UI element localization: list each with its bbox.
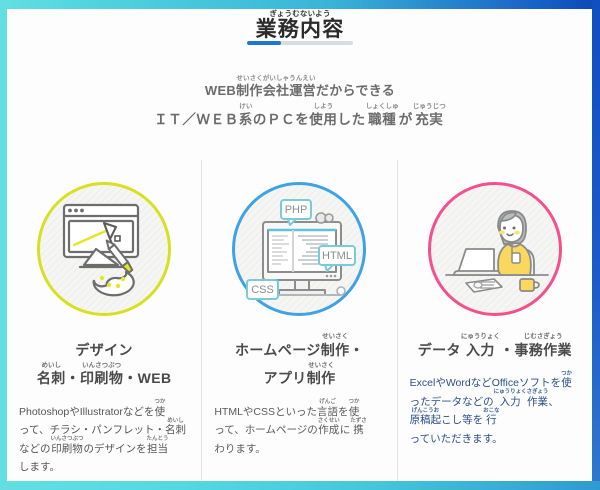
service-columns: デザイン めいし 名刺 ・いんさつぶつ 印刷物 ・WEB PhotoshopやI… xyxy=(7,160,592,481)
subtitle-seg: だからできる xyxy=(316,76,395,98)
coding-monitor-php-html-css-icon: PHP HTML CSS xyxy=(232,182,366,316)
business-content-page: ぎょうむないよう 業務内容 WEB せいさくがいしゃうんえい 制作会社運営 だか… xyxy=(0,0,600,490)
web-card-heading: ホームページせいさく 制作 ・ アプリせいさく 制作 xyxy=(235,334,364,386)
service-card-design[interactable]: デザイン めいし 名刺 ・いんさつぶつ 印刷物 ・WEB PhotoshopやI… xyxy=(7,160,201,481)
design-card-body: PhotoshopやIllustratorなどをつか使 って、チラシ・パンフレッ… xyxy=(19,400,189,474)
svg-text:HTML: HTML xyxy=(323,250,353,262)
svg-text:CSS: CSS xyxy=(252,284,275,296)
subtitle-ruby-seg: せいさくがいしゃうんえい 制作会社運営 xyxy=(236,76,316,98)
subtitle-ruby-seg: じゅうじつ 充実 xyxy=(413,104,446,127)
page-title-furigana: ぎょうむないよう xyxy=(256,10,345,18)
data-entry-card-body: ExcelやWordなどOfficeソフトをつか使 ったデータなどのにゅうりょく… xyxy=(410,372,580,446)
svg-text:PHP: PHP xyxy=(285,204,308,216)
heading-line-1: ホームページせいさく 制作 ・ xyxy=(235,334,364,358)
design-monitor-palette-icon xyxy=(37,182,171,316)
service-card-web[interactable]: PHP HTML CSS ホームページせいさく xyxy=(201,160,396,481)
heading-line-1: データにゅうりょく 入力 ・じむさぎょう 事務作業 xyxy=(418,334,572,358)
data-entry-card-heading: データにゅうりょく 入力 ・じむさぎょう 事務作業 xyxy=(418,334,572,358)
service-card-data-entry[interactable]: データにゅうりょく 入力 ・じむさぎょう 事務作業 ExcelやWordなどOf… xyxy=(397,160,592,481)
subtitle-line-1: WEB せいさくがいしゃうんえい 制作会社運営 だからできる xyxy=(0,76,600,98)
top-accent-bar xyxy=(0,0,600,9)
design-card-heading: デザイン めいし 名刺 ・いんさつぶつ 印刷物 ・WEB xyxy=(37,334,172,386)
heading-line-2: めいし 名刺 ・いんさつぶつ 印刷物 ・WEB xyxy=(37,363,172,387)
web-card-body: HTMLやCSSといったげんご言語 をつか使 って、ホームページのさくせい作成 … xyxy=(214,400,384,455)
left-accent-edge xyxy=(0,0,7,490)
subtitle-seg: のＰＣを xyxy=(253,104,309,127)
subtitle-seg: ＩＴ／ＷＥＢ xyxy=(154,104,239,127)
page-title-block: ぎょうむないよう 業務内容 xyxy=(0,10,600,41)
heading-line-1: デザイン xyxy=(37,334,172,358)
page-title-ruby-group: ぎょうむないよう 業務内容 xyxy=(256,10,345,40)
office-worker-laptop-icon xyxy=(428,182,562,316)
page-title: 業務内容 xyxy=(256,19,345,40)
subtitle-ruby-seg: けい 系 xyxy=(239,104,253,127)
subtitle-ruby-seg: しょくしゅ 職種 xyxy=(366,104,399,127)
subtitle-line-2: ＩＴ／ＷＥＢ けい 系 のＰＣを しよう 使用 した しょくしゅ 職種 が じゅ… xyxy=(0,104,600,127)
subtitle-seg: WEB xyxy=(205,76,236,98)
heading-line-2: アプリせいさく 制作 xyxy=(235,363,364,387)
title-underline-bar xyxy=(247,41,353,45)
subtitle-ruby-seg: しよう 使用 xyxy=(309,104,337,127)
subtitle-seg: した xyxy=(338,104,366,127)
right-accent-edge xyxy=(592,0,600,490)
bottom-accent-bar xyxy=(0,481,600,490)
subtitle-block: WEB せいさくがいしゃうんえい 制作会社運営 だからできる ＩＴ／ＷＥＢ けい… xyxy=(0,76,600,133)
subtitle-seg: が xyxy=(399,104,413,127)
